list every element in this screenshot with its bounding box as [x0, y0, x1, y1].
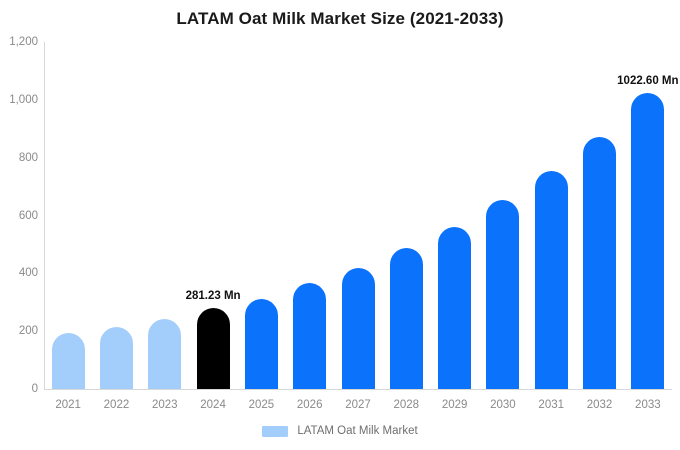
bar-2025[interactable]: [245, 299, 278, 389]
bar-2028[interactable]: [390, 248, 423, 389]
legend-item[interactable]: LATAM Oat Milk Market: [262, 425, 417, 437]
x-axis-tick-label-2025: 2025: [249, 399, 275, 411]
x-axis-tick-label-2028: 2028: [394, 399, 420, 411]
x-axis-tick-label-2026: 2026: [297, 399, 323, 411]
x-axis-tick-label-2022: 2022: [104, 399, 130, 411]
x-axis-tick-label-2029: 2029: [442, 399, 468, 411]
bar-2027[interactable]: [342, 268, 375, 389]
x-axis-tick-label-2033: 2033: [635, 399, 661, 411]
chart-title: LATAM Oat Milk Market Size (2021-2033): [0, 9, 680, 29]
y-axis-tick-label: 1,000: [0, 94, 38, 106]
bar-2031[interactable]: [535, 171, 568, 389]
bar-value-label-2033: 1022.60 Mn: [617, 75, 678, 87]
y-axis-tick-label: 0: [0, 383, 38, 395]
bar-2023[interactable]: [148, 319, 181, 389]
chart-legend[interactable]: LATAM Oat Milk Market: [0, 425, 680, 437]
y-axis-tick-label: 600: [0, 210, 38, 222]
x-axis-tick-label-2032: 2032: [587, 399, 613, 411]
legend-swatch-icon: [262, 426, 288, 437]
bar-chart: LATAM Oat Milk Market Size (2021-2033) 0…: [0, 0, 680, 450]
y-axis-tick-label: 400: [0, 267, 38, 279]
bar-2032[interactable]: [583, 137, 616, 389]
x-axis-tick-label-2031: 2031: [538, 399, 564, 411]
bar-2022[interactable]: [100, 327, 133, 389]
x-axis: 2021202220232024202520262027202820292030…: [44, 399, 672, 415]
y-axis-tick-label: 200: [0, 325, 38, 337]
x-axis-tick-label-2027: 2027: [345, 399, 371, 411]
bar-2030[interactable]: [486, 200, 519, 389]
bar-2033[interactable]: [631, 93, 664, 389]
y-axis-tick-label: 1,200: [0, 36, 38, 48]
x-axis-tick-label-2021: 2021: [55, 399, 81, 411]
bar-2021[interactable]: [52, 333, 85, 389]
plot-area: 281.23 Mn1022.60 Mn: [44, 42, 672, 389]
legend-label: LATAM Oat Milk Market: [297, 425, 417, 437]
y-axis: 02004006008001,0001,200: [0, 0, 38, 450]
bar-2026[interactable]: [293, 283, 326, 389]
bar-2024[interactable]: [197, 308, 230, 389]
bar-2029[interactable]: [438, 227, 471, 390]
x-axis-tick-label-2024: 2024: [200, 399, 226, 411]
bar-value-label-2024: 281.23 Mn: [186, 290, 241, 302]
x-axis-line: [44, 389, 672, 390]
y-axis-tick-label: 800: [0, 152, 38, 164]
x-axis-tick-label-2030: 2030: [490, 399, 516, 411]
x-axis-tick-label-2023: 2023: [152, 399, 178, 411]
